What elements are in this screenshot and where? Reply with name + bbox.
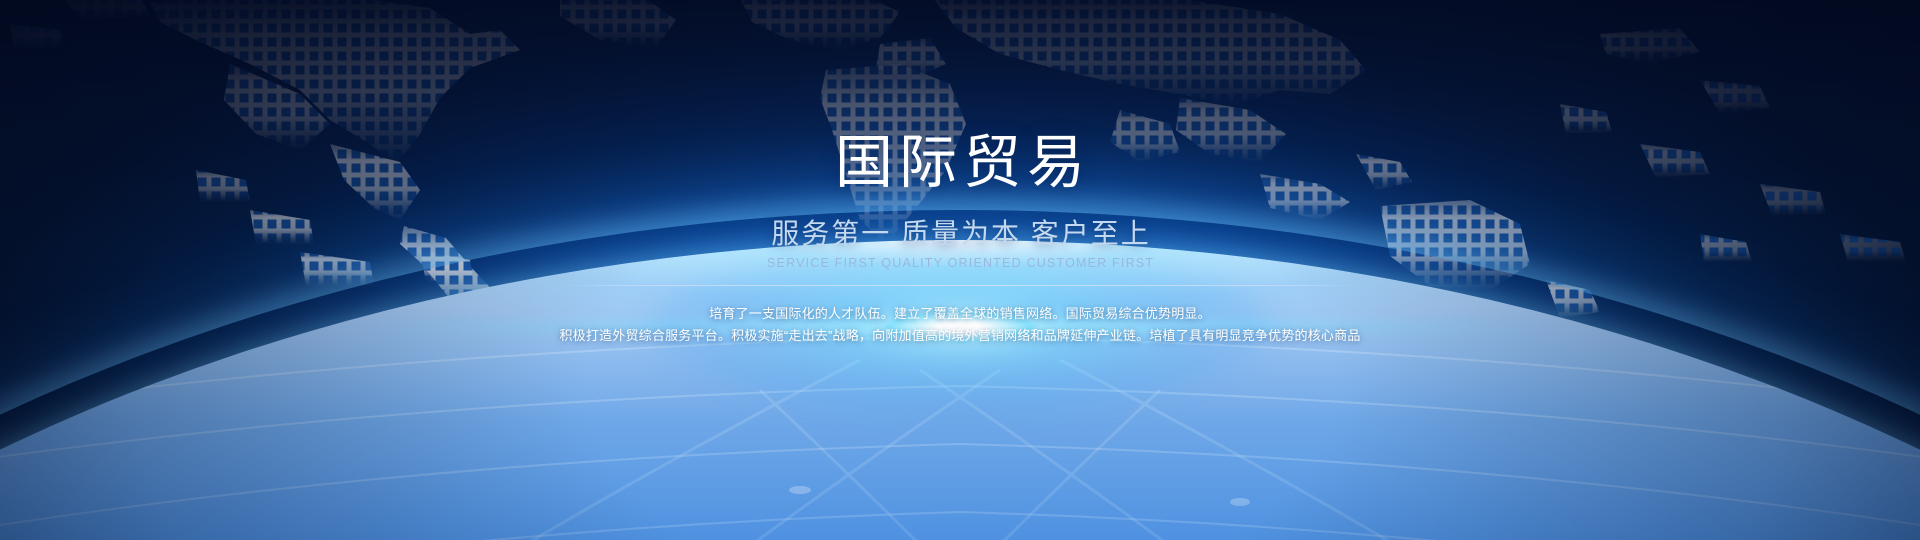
description-block: 培育了一支国际化的人才队伍。建立了覆盖全球的销售网络。国际贸易综合优势明显。 积…	[0, 303, 1920, 346]
divider	[560, 285, 1360, 286]
international-trade-banner: 国际贸易 服务第一 质量为本 客户至上 SERVICE FIRST QUALIT…	[0, 0, 1920, 540]
description-line-1: 培育了一支国际化的人才队伍。建立了覆盖全球的销售网络。国际贸易综合优势明显。	[0, 303, 1920, 324]
banner-content: 国际贸易 服务第一 质量为本 客户至上 SERVICE FIRST QUALIT…	[0, 0, 1920, 346]
page-title: 国际贸易	[0, 0, 1920, 192]
subtitle-english: SERVICE FIRST QUALITY ORIENTED CUSTOMER …	[0, 257, 1920, 270]
description-line-2: 积极打造外贸综合服务平台。积极实施“走出去”战略，向附加值高的境外营销网络和品牌…	[0, 325, 1920, 346]
subtitle-chinese: 服务第一 质量为本 客户至上	[0, 220, 1920, 248]
